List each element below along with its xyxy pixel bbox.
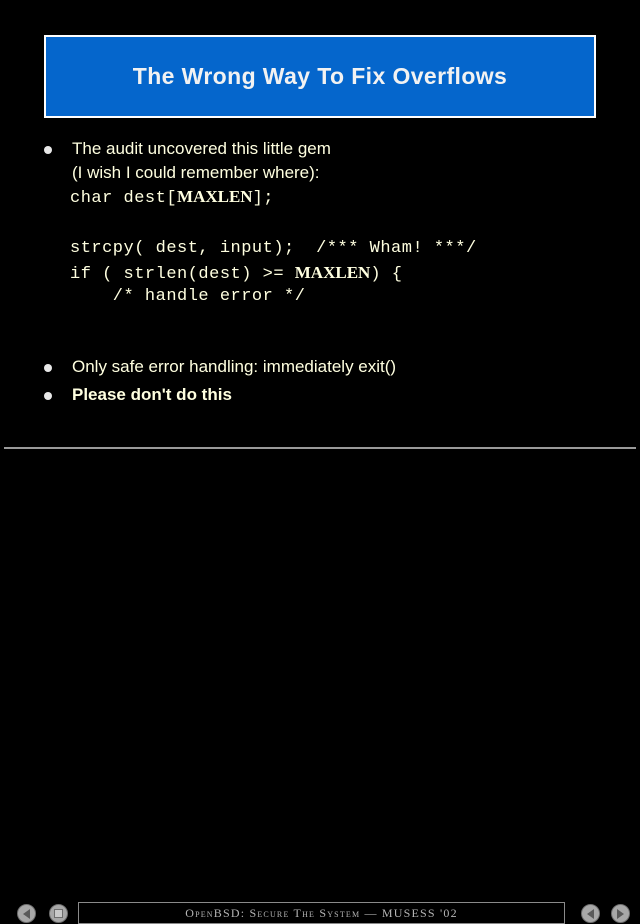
code-decl-suffix: ]; — [253, 189, 274, 208]
square-icon — [54, 909, 63, 918]
code-decl-prefix: char dest[ — [70, 189, 177, 208]
bullet-label-exit: Only safe error handling: immediately ex… — [72, 356, 396, 377]
code-if-maxlen: MAXLEN — [295, 263, 371, 282]
previous-slide-button[interactable] — [581, 904, 600, 923]
slide-footer: OpenBSD: Secure The System — MUSESS '02 — [0, 449, 640, 480]
code-if-prefix: if ( strlen(dest) >= — [70, 265, 295, 284]
code-line-if: if ( strlen(dest) >= MAXLEN) { — [70, 262, 402, 285]
bullet-item-please: Please don't do this — [44, 384, 232, 405]
code-line-strcpy: strcpy( dest, input); /*** Wham! ***/ — [70, 238, 477, 259]
footer-caption-box: OpenBSD: Secure The System — MUSESS '02 — [78, 902, 565, 924]
first-slide-button[interactable] — [17, 904, 36, 923]
code-if-suffix: ) { — [370, 265, 402, 284]
bullet-item-exit: Only safe error handling: immediately ex… — [44, 356, 396, 377]
presentation-slide: The Wrong Way To Fix Overflows The audit… — [0, 0, 640, 480]
bullet-label-audit: The audit uncovered this little gem — [72, 138, 331, 159]
code-line-declaration: char dest[MAXLEN]; — [70, 186, 274, 209]
bullet-dot-icon — [44, 146, 52, 154]
stop-button[interactable] — [49, 904, 68, 923]
code-strcpy-suffix: / — [466, 239, 477, 258]
slide-body: The audit uncovered this little gem (I w… — [0, 128, 640, 433]
triangle-left-icon — [23, 909, 30, 919]
triangle-right-icon — [617, 909, 624, 919]
bullet-label-please: Please don't do this — [72, 384, 232, 405]
footer-caption: OpenBSD: Secure The System — MUSESS '02 — [185, 906, 458, 921]
bullet-item-audit: The audit uncovered this little gem — [44, 138, 331, 159]
slide-title: The Wrong Way To Fix Overflows — [133, 63, 508, 90]
slide-title-banner: The Wrong Way To Fix Overflows — [44, 35, 596, 118]
next-slide-button[interactable] — [611, 904, 630, 923]
triangle-left-icon — [587, 909, 594, 919]
code-decl-maxlen: MAXLEN — [177, 187, 253, 206]
bullet-dot-icon — [44, 392, 52, 400]
code-strcpy-prefix: strcpy( dest, input); /*** Wham! *** — [70, 239, 466, 258]
sub-line-wish: (I wish I could remember where): — [72, 162, 320, 183]
code-line-handle-error: /* handle error */ — [70, 286, 305, 307]
bullet-dot-icon — [44, 364, 52, 372]
